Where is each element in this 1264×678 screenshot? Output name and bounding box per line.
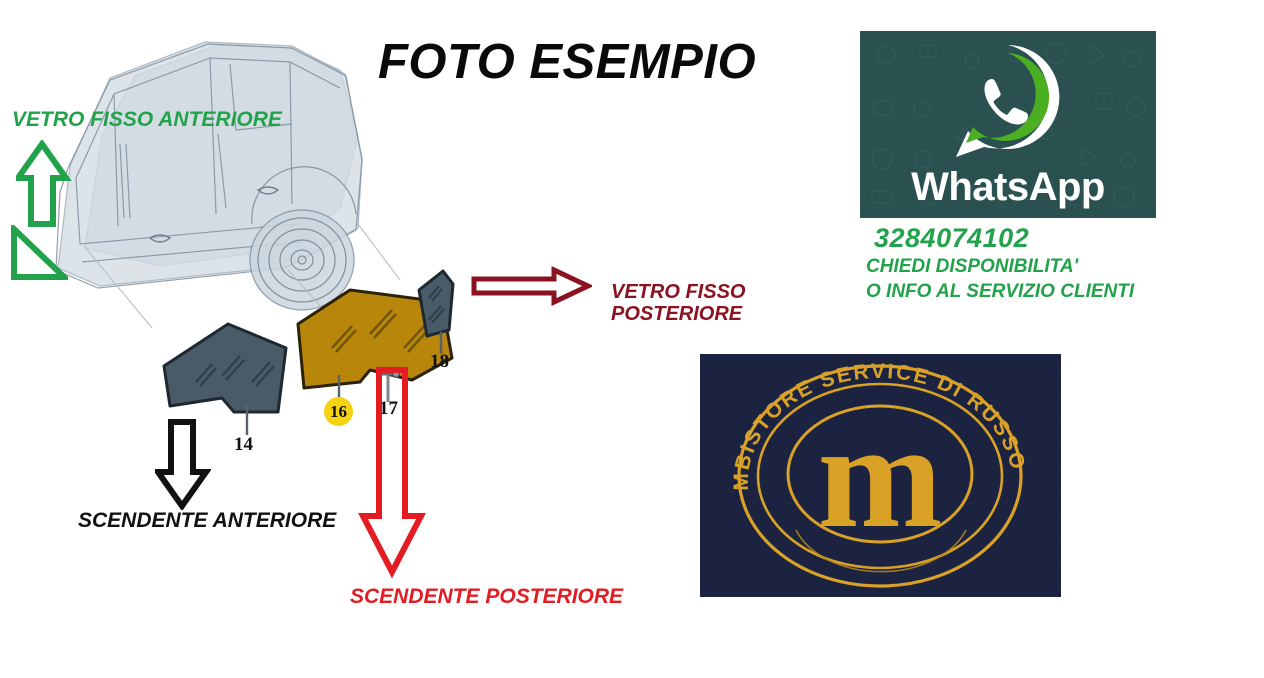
contact-line-2: O INFO AL SERVIZIO CLIENTI [866, 279, 1196, 304]
phone-number[interactable]: 3284074102 [874, 223, 1196, 254]
triangle-green-icon [8, 225, 68, 283]
part-14-leader-line [240, 405, 254, 437]
page-title: FOTO ESEMPIO [378, 34, 798, 90]
label-vetro-fisso-posteriore: VETRO FISSO POSTERIORE [611, 281, 745, 326]
label-vetro-fisso-anteriore: VETRO FISSO ANTERIORE [12, 108, 282, 132]
part-14-number: 14 [234, 434, 253, 456]
down-arrow-black-icon [155, 418, 211, 510]
part-18-number: 18 [430, 351, 449, 373]
part-14-glass [160, 320, 305, 430]
whatsapp-wordmark: WhatsApp [860, 165, 1156, 210]
label-scendente-anteriore: SCENDENTE ANTERIORE [78, 509, 336, 533]
contact-line-1: CHIEDI DISPONIBILITA' [866, 254, 1196, 279]
down-arrow-red-icon [357, 366, 429, 578]
shop-logo: MRICAMBISTORE SERVICE DI RUSSO MARCO m [700, 354, 1061, 597]
whatsapp-logo-icon [944, 39, 1072, 163]
contact-block: 3284074102 CHIEDI DISPONIBILITA' O INFO … [866, 223, 1196, 305]
up-arrow-green-icon [16, 140, 72, 232]
shop-logo-monogram: m [818, 393, 943, 559]
part-16-number-badge: 16 [324, 397, 353, 426]
shop-logo-mark: MRICAMBISTORE SERVICE DI RUSSO MARCO m [700, 354, 1061, 597]
whatsapp-banner[interactable]: WhatsApp [860, 31, 1156, 218]
label-scendente-posteriore: SCENDENTE POSTERIORE [350, 585, 623, 609]
right-arrow-darkred-icon [470, 266, 592, 306]
